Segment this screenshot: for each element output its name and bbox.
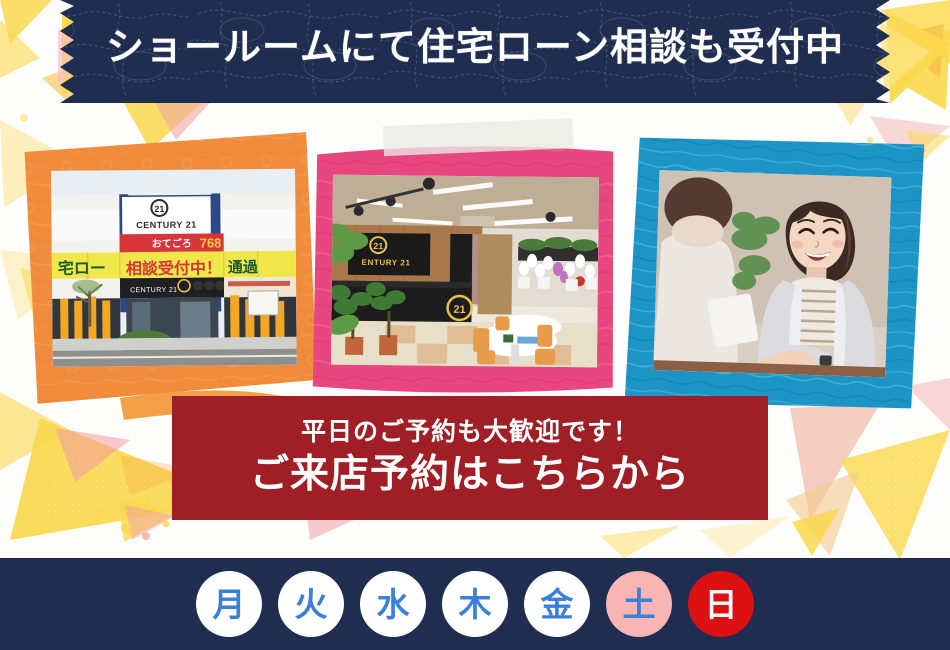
page-headline: ショールームにて住宅ローン相談も受付中 xyxy=(0,18,950,78)
day-label-thu: 木 xyxy=(459,588,492,621)
day-label-tue: 火 xyxy=(295,588,328,621)
photo-storefront: 21 CENTURY 21 おてごろ 768 宅ロー 相談受付中！ 通過 xyxy=(14,128,322,416)
day-badge-thu[interactable]: 木 xyxy=(442,571,508,637)
svg-text:宅ロー: 宅ロー xyxy=(58,258,106,277)
svg-text:21: 21 xyxy=(373,241,383,251)
day-badge-sat[interactable]: 土 xyxy=(606,571,672,637)
reservation-cta[interactable]: 平日のご予約も大歓迎です！ ご来店予約はこちらから xyxy=(172,396,768,520)
day-badge-sun[interactable]: 日 xyxy=(688,571,754,637)
cta-maintext: ご来店予約はこちらから xyxy=(250,450,690,500)
photo-consultation-image xyxy=(653,170,891,377)
svg-text:768: 768 xyxy=(200,235,222,250)
svg-text:おてごろ: おてごろ xyxy=(152,237,192,250)
promo-banner: ショールームにて住宅ローン相談も受付中 xyxy=(0,0,950,650)
day-label-mon: 月 xyxy=(213,588,246,621)
day-label-fri: 金 xyxy=(541,588,574,621)
svg-text:相談受付中！: 相談受付中！ xyxy=(126,258,222,278)
day-badge-tue[interactable]: 火 xyxy=(278,571,344,637)
svg-text:CENTURY 21: CENTURY 21 xyxy=(136,220,197,231)
svg-text:21: 21 xyxy=(154,204,164,214)
day-badge-wed[interactable]: 水 xyxy=(360,571,426,637)
day-label-wed: 水 xyxy=(377,588,410,621)
day-label-sat: 土 xyxy=(623,588,656,621)
day-badge-fri[interactable]: 金 xyxy=(524,571,590,637)
svg-text:通過: 通過 xyxy=(228,259,259,276)
photo-consultation xyxy=(608,115,943,441)
photo-office-interior-image: 21 ENTURY 21 xyxy=(331,175,599,368)
business-days-bar: 月 火 水 木 金 土 日 xyxy=(0,558,950,650)
cta-subtext: 平日のご予約も大歓迎です！ xyxy=(301,416,639,448)
headline-ribbon: ショールームにて住宅ローン相談も受付中 xyxy=(0,0,950,112)
svg-text:CENTURY 21: CENTURY 21 xyxy=(130,287,177,294)
photo-office-interior: 21 ENTURY 21 xyxy=(311,136,619,401)
photo-storefront-image: 21 CENTURY 21 おてごろ 768 宅ロー 相談受付中！ 通過 xyxy=(51,169,297,367)
svg-text:21: 21 xyxy=(453,304,465,316)
day-badge-mon[interactable]: 月 xyxy=(196,571,262,637)
svg-text:ENTURY 21: ENTURY 21 xyxy=(362,258,411,268)
day-label-sun: 日 xyxy=(705,588,738,621)
